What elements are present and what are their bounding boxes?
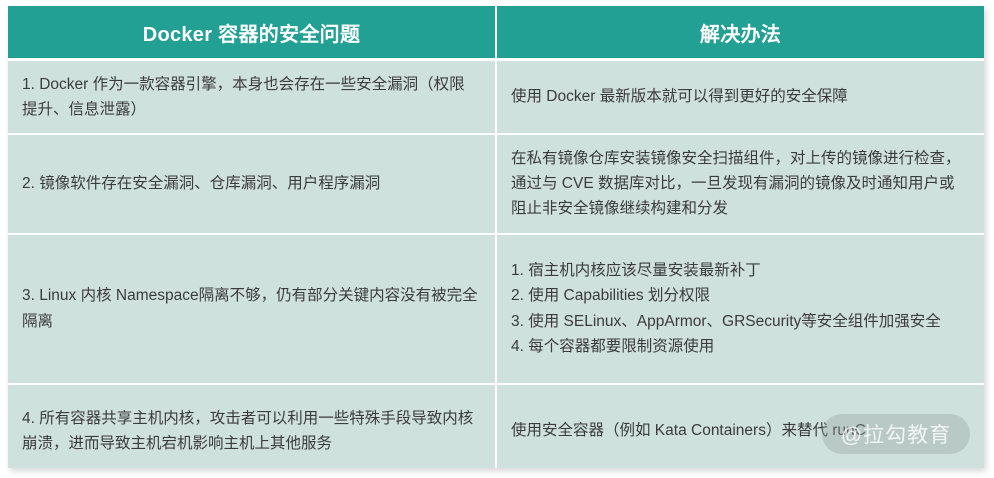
docker-security-table: Docker 容器的安全问题 解决办法 1. Docker 作为一款容器引擎，本… <box>8 6 984 468</box>
table-row: 2. 镜像软件存在安全漏洞、仓库漏洞、用户程序漏洞 在私有镜像仓库安装镜像安全扫… <box>8 134 984 234</box>
table-row: 3. Linux 内核 Namespace隔离不够，仍有部分关键内容没有被完全隔… <box>8 234 984 384</box>
solution-cell-3: 1. 宿主机内核应该尽量安装最新补丁 2. 使用 Capabilities 划分… <box>496 234 984 384</box>
issue-cell-1: 1. Docker 作为一款容器引擎，本身也会存在一些安全漏洞（权限提升、信息泄… <box>8 60 496 134</box>
column-header-issues: Docker 容器的安全问题 <box>8 6 496 60</box>
table-row: 1. Docker 作为一款容器引擎，本身也会存在一些安全漏洞（权限提升、信息泄… <box>8 60 984 134</box>
solution-cell-1: 使用 Docker 最新版本就可以得到更好的安全保障 <box>496 60 984 134</box>
table-head: Docker 容器的安全问题 解决办法 <box>8 6 984 60</box>
solution-text-2: 在私有镜像仓库安装镜像安全扫描组件，对上传的镜像进行检查，通过与 CVE 数据库… <box>511 146 968 221</box>
issue-text-2: 2. 镜像软件存在安全漏洞、仓库漏洞、用户程序漏洞 <box>22 171 479 196</box>
issue-text-3: 3. Linux 内核 Namespace隔离不够，仍有部分关键内容没有被完全隔… <box>22 283 479 333</box>
issue-cell-2: 2. 镜像软件存在安全漏洞、仓库漏洞、用户程序漏洞 <box>8 134 496 234</box>
table-header-row: Docker 容器的安全问题 解决办法 <box>8 6 984 60</box>
issue-cell-3: 3. Linux 内核 Namespace隔离不够，仍有部分关键内容没有被完全隔… <box>8 234 496 384</box>
column-header-solutions: 解决办法 <box>496 6 984 60</box>
solution-text-3: 1. 宿主机内核应该尽量安装最新补丁 2. 使用 Capabilities 划分… <box>511 258 968 358</box>
table-body: 1. Docker 作为一款容器引擎，本身也会存在一些安全漏洞（权限提升、信息泄… <box>8 60 984 469</box>
solution-text-4: 使用安全容器（例如 Kata Containers）来替代 runC <box>511 418 968 443</box>
issue-cell-4: 4. 所有容器共享主机内核，攻击者可以利用一些特殊手段导致内核崩溃，进而导致主机… <box>8 384 496 469</box>
solution-cell-4: 使用安全容器（例如 Kata Containers）来替代 runC <box>496 384 984 469</box>
issue-text-4: 4. 所有容器共享主机内核，攻击者可以利用一些特殊手段导致内核崩溃，进而导致主机… <box>22 406 479 456</box>
security-table-container: Docker 容器的安全问题 解决办法 1. Docker 作为一款容器引擎，本… <box>8 6 984 468</box>
solution-cell-2: 在私有镜像仓库安装镜像安全扫描组件，对上传的镜像进行检查，通过与 CVE 数据库… <box>496 134 984 234</box>
table-row: 4. 所有容器共享主机内核，攻击者可以利用一些特殊手段导致内核崩溃，进而导致主机… <box>8 384 984 469</box>
page-root: Docker 容器的安全问题 解决办法 1. Docker 作为一款容器引擎，本… <box>0 0 994 478</box>
solution-text-1: 使用 Docker 最新版本就可以得到更好的安全保障 <box>511 84 968 109</box>
issue-text-1: 1. Docker 作为一款容器引擎，本身也会存在一些安全漏洞（权限提升、信息泄… <box>22 72 479 122</box>
